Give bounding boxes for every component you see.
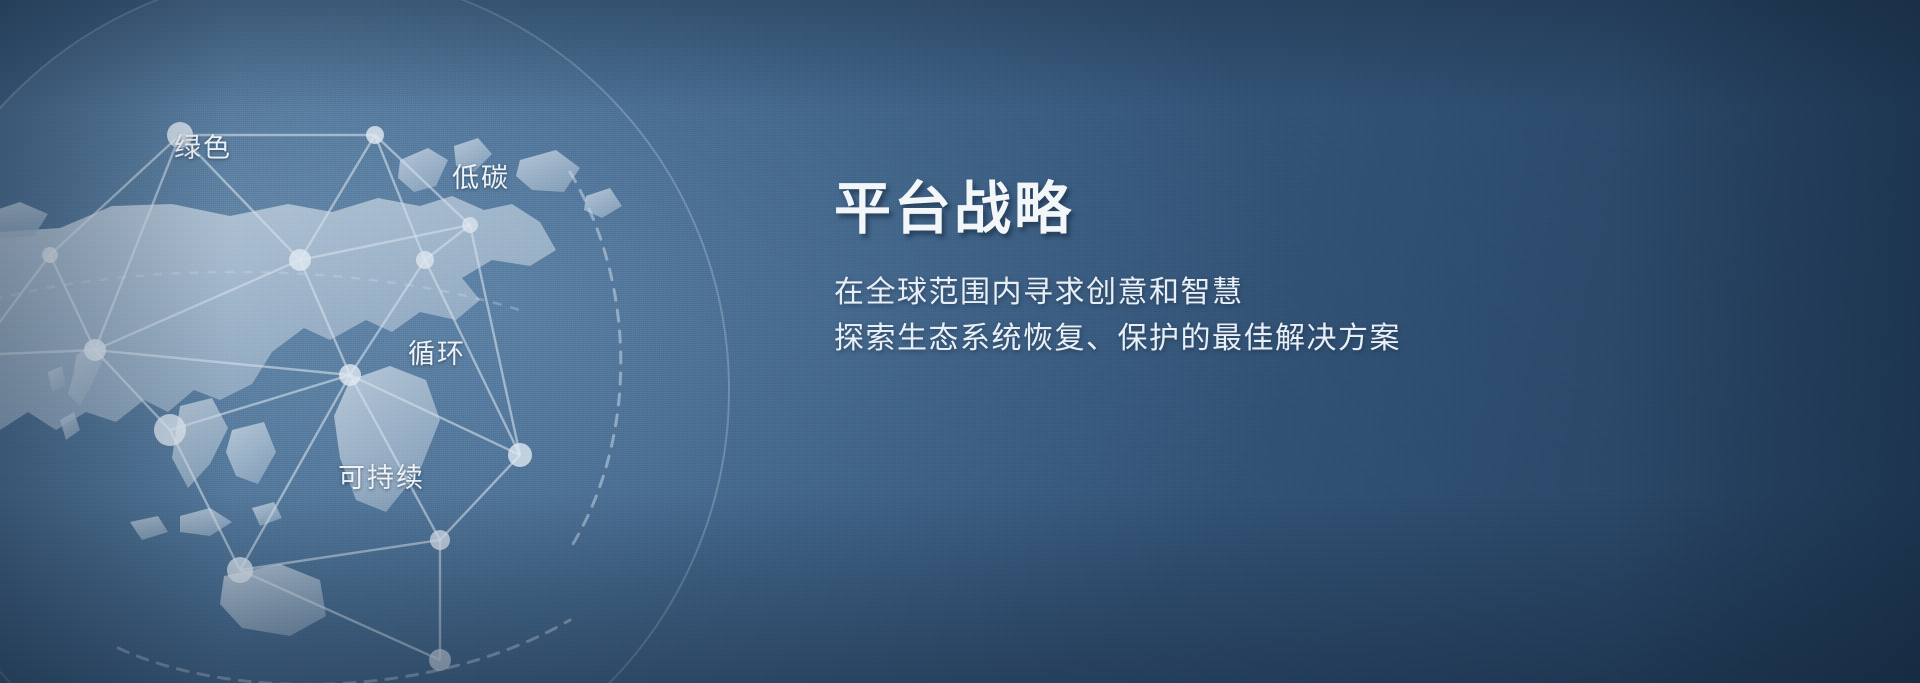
banner-subtitle-line-1: 在全球范围内寻求创意和智慧	[834, 270, 1734, 317]
banner-text-block: 平台战略 在全球范围内寻求创意和智慧 探索生态系统恢复、保护的最佳解决方案	[834, 180, 1734, 363]
globe-label-circular: 循环	[408, 332, 466, 371]
globe-label-low-carbon: 低碳	[452, 156, 510, 195]
banner-headline: 平台战略	[834, 180, 1734, 240]
hero-banner: 绿色 低碳 循环 可持续 平台战略 在全球范围内寻求创意和智慧 探索生态系统恢复…	[0, 0, 1920, 683]
banner-subtitle-line-2: 探索生态系统恢复、保护的最佳解决方案	[834, 316, 1734, 363]
globe-label-green: 绿色	[174, 126, 232, 165]
globe-label-sustainable: 可持续	[338, 456, 425, 495]
